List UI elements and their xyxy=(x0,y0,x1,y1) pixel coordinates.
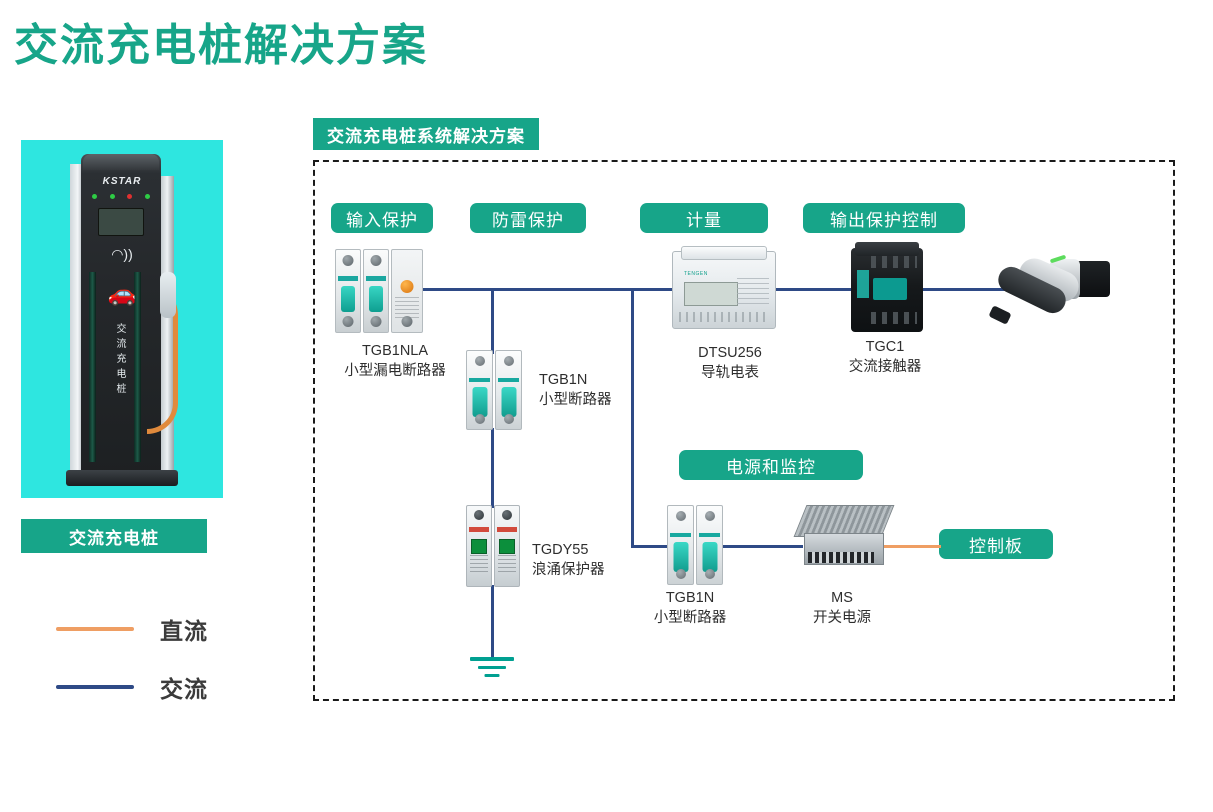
pile-led-row xyxy=(92,194,150,199)
device-model-psu: MS xyxy=(775,588,909,608)
device-desc-psu: 开关电源 xyxy=(775,608,909,628)
device-contactor-tgc1 xyxy=(851,248,923,332)
status-led-1 xyxy=(92,194,97,199)
section-label-input-protection: 输入保护 xyxy=(331,203,433,233)
section-label-control-board: 控制板 xyxy=(939,529,1053,559)
device-desc-mcb1: 小型断路器 xyxy=(539,390,669,410)
section-label-power-monitoring: 电源和监控 xyxy=(679,450,863,480)
caption-spd: TGDY55 浪涌保护器 xyxy=(532,540,662,580)
legend-item-dc: 直流 xyxy=(56,612,208,646)
section-label-output-control: 输出保护控制 xyxy=(803,203,965,233)
device-model-rcbo: TGB1NLA xyxy=(300,341,490,361)
holstered-connector xyxy=(160,272,176,318)
pile-brand-label: KSTAR xyxy=(70,176,174,187)
charging-pile-illustration: KSTAR ◠)) 🚗 交流充电桩 xyxy=(70,154,174,486)
device-desc-rcbo: 小型漏电断路器 xyxy=(300,361,490,381)
status-led-4 xyxy=(145,194,150,199)
caption-mcb2: TGB1N 小型断路器 xyxy=(615,588,765,628)
pile-top-cap xyxy=(83,154,159,170)
wire-dc-psu-to-control-board xyxy=(884,545,941,548)
device-mcb-tgb1n-lower xyxy=(667,505,723,585)
section-label-surge-protection: 防雷保护 xyxy=(470,203,586,233)
wire-ac-meter-to-contactor xyxy=(776,288,852,291)
pile-base xyxy=(66,470,178,486)
section-label-metering: 计量 xyxy=(640,203,768,233)
device-model-spd: TGDY55 xyxy=(532,540,662,560)
device-desc-mcb2: 小型断路器 xyxy=(615,608,765,628)
legend-label-ac: 交流 xyxy=(160,670,208,704)
device-model-mcb2: TGB1N xyxy=(615,588,765,608)
product-photo: KSTAR ◠)) 🚗 交流充电桩 xyxy=(21,140,223,498)
wire-ac-branch-to-mcb1 xyxy=(491,288,494,354)
diagram-header: 交流充电桩系统解决方案 xyxy=(313,118,539,150)
device-mcb-tgb1n-upper xyxy=(466,350,522,430)
device-meter-dtsu256: TENGEN xyxy=(672,251,776,329)
caption-meter: DTSU256 导轨电表 xyxy=(650,343,810,383)
device-model-meter: DTSU256 xyxy=(650,343,810,363)
legend-swatch-ac xyxy=(56,685,134,689)
status-led-3 xyxy=(127,194,132,199)
caption-contactor: TGC1 交流接触器 xyxy=(800,337,970,377)
wire-ac-mcb1-to-spd xyxy=(491,428,494,508)
caption-rcbo: TGB1NLA 小型漏电断路器 xyxy=(300,341,490,381)
device-switching-power-supply-ms xyxy=(800,505,886,569)
page-title: 交流充电桩解决方案 xyxy=(14,22,428,70)
status-led-2 xyxy=(110,194,115,199)
wire-ac-spd-to-ground xyxy=(491,585,494,659)
device-desc-contactor: 交流接触器 xyxy=(800,357,970,377)
wire-ac-mcb2-to-psu xyxy=(723,545,803,548)
legend-label-dc: 直流 xyxy=(160,612,208,646)
product-caption: 交流充电桩 xyxy=(21,519,207,553)
caption-psu: MS 开关电源 xyxy=(775,588,909,628)
device-spd-tgdy55 xyxy=(466,505,520,587)
ev-charging-connector-icon xyxy=(990,253,1110,325)
pile-display-screen xyxy=(98,208,144,236)
earth-ground-icon xyxy=(470,657,514,681)
device-model-contactor: TGC1 xyxy=(800,337,970,357)
legend-item-ac: 交流 xyxy=(56,670,208,704)
device-desc-meter: 导轨电表 xyxy=(650,363,810,383)
rfid-wave-icon: ◠)) xyxy=(70,246,174,263)
legend-swatch-dc xyxy=(56,627,134,631)
device-desc-spd: 浪涌保护器 xyxy=(532,560,662,580)
device-rcbo-tgb1nla xyxy=(335,249,423,333)
wire-ac-branch-to-psu-row xyxy=(631,288,634,547)
wire-ac-rcbo-to-meter xyxy=(423,288,672,291)
